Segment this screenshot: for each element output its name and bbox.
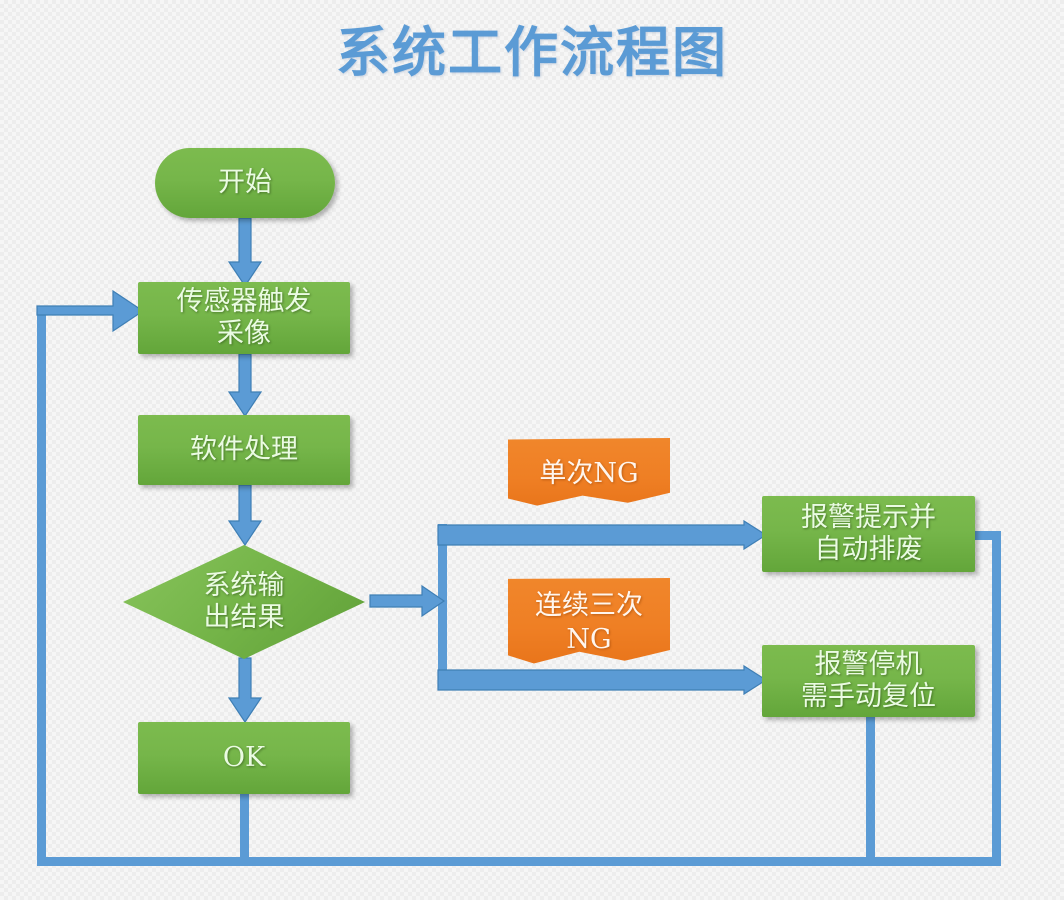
edge-alarm-stop-vertical [866, 715, 875, 865]
node-alarm-stop-manual-reset[interactable]: 报警停机需手动复位 [762, 645, 975, 717]
edge-alarm-eject-vertical-right [992, 531, 1001, 865]
node-start-label: 开始 [218, 167, 272, 199]
banner-single-ng-label: 单次NG [539, 457, 638, 491]
node-alarm-and-auto-eject[interactable]: 报警提示并自动排废 [762, 496, 975, 572]
node-ok-label: OK [223, 742, 265, 774]
edge-start-to-sensor [228, 218, 262, 288]
node-decision-system-output[interactable]: 系统输出结果 [123, 545, 365, 659]
page-title: 系统工作流程图 [0, 8, 1064, 87]
edge-bus-to-alarm-stop [438, 666, 768, 694]
edge-software-to-decision [228, 485, 262, 547]
node-ok[interactable]: OK [138, 722, 350, 794]
node-sensor-trigger[interactable]: 传感器触发采像 [138, 282, 350, 354]
flowchart-canvas: 系统工作流程图 [0, 0, 1064, 900]
node-alarm-stop-manual-reset-label: 报警停机需手动复位 [801, 649, 936, 714]
edge-return-into-sensor [37, 291, 145, 331]
node-start[interactable]: 开始 [155, 148, 335, 218]
node-software-processing-label: 软件处理 [190, 434, 298, 466]
node-alarm-and-auto-eject-label: 报警提示并自动排废 [801, 502, 936, 567]
edge-decision-to-branch-bus [370, 586, 446, 616]
banner-single-ng[interactable]: 单次NG [508, 438, 670, 510]
node-software-processing[interactable]: 软件处理 [138, 415, 350, 485]
edge-ok-vertical [240, 794, 249, 865]
return-bus-left-vertical [37, 306, 46, 862]
edge-bus-to-alarm-eject [438, 521, 768, 549]
node-decision-system-output-label: 系统输出结果 [204, 570, 285, 635]
edge-decision-to-ok [228, 658, 262, 724]
node-sensor-trigger-label: 传感器触发采像 [177, 286, 312, 351]
edge-sensor-to-software [228, 354, 262, 418]
return-bus-bottom [37, 857, 1001, 866]
banner-triple-ng[interactable]: 连续三次NG [508, 578, 670, 668]
banner-triple-ng-label: 连续三次NG [535, 589, 643, 657]
